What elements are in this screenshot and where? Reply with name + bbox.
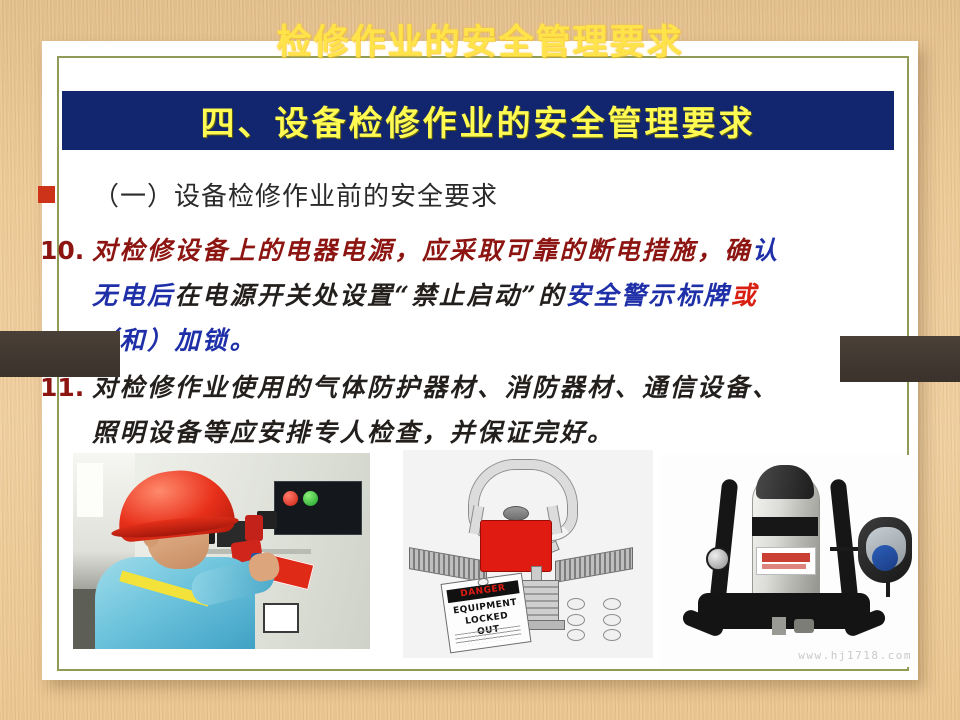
background-title: 检修作业的安全管理要求 <box>0 14 960 65</box>
text-run: 无电后 <box>92 281 175 310</box>
text-run: 安全警示标牌 <box>566 281 731 310</box>
ribbed-plate-left <box>409 547 487 583</box>
text-line: （和）加锁。 <box>92 318 938 363</box>
lockout-device-red <box>245 515 263 541</box>
pressure-gauge-icon <box>706 547 730 571</box>
cylinder-valve <box>772 617 786 635</box>
hasp-hole <box>603 629 621 641</box>
text-line: 对检修设备上的电器电源，应采取可靠的断电措施，确认 <box>92 228 938 273</box>
hasp-hole <box>567 598 585 610</box>
photo-scba: www.hj1718.com <box>660 455 918 667</box>
cylinder-valve <box>794 619 814 633</box>
body-content: 10. 对检修设备上的电器电源，应采取可靠的断电措施，确认 无电后在电源开关处设… <box>38 228 938 457</box>
cylinder-cap <box>756 465 814 499</box>
bullet-square-icon <box>38 186 55 203</box>
hasp-hole <box>603 614 621 626</box>
subsection-row: （一）设备检修作业前的安全要求 <box>38 176 498 213</box>
label-marking <box>762 553 810 562</box>
text-run: 对检修作业使用的气体防护器材、消防器材、通信设备、 <box>92 373 780 402</box>
section-header-bar: 四、设备检修作业的安全管理要求 <box>62 91 894 150</box>
text-run: 照明设备等应安排专人检查，并保证完好。 <box>92 418 615 447</box>
hasp-hole <box>603 598 621 610</box>
window-shape <box>77 463 103 517</box>
photo-lockout-hasp: DANGER EQUIPMENT LOCKED OUT <box>403 450 653 658</box>
label-marking <box>762 564 806 569</box>
cylinder-label <box>756 547 816 575</box>
list-item-lines: 对检修作业使用的气体防护器材、消防器材、通信设备、 照明设备等应安排专人检查，并… <box>92 365 938 455</box>
lockout-tag: DANGER EQUIPMENT LOCKED OUT <box>441 573 532 654</box>
text-line: 无电后在电源开关处设置“禁止启动”的安全警示标牌或 <box>92 273 938 318</box>
section-header-title: 四、设备检修作业的安全管理要求 <box>201 96 756 145</box>
list-item: 10. 对检修设备上的电器电源，应采取可靠的断电措施，确认 无电后在电源开关处设… <box>38 228 938 363</box>
indicator-light-red <box>283 491 298 506</box>
indicator-light-green <box>303 491 318 506</box>
subsection-title: （一）设备检修作业前的安全要求 <box>93 176 498 213</box>
text-run: 在电源开关处设置“禁止启动”的 <box>175 281 566 310</box>
decorative-band-left <box>0 331 120 377</box>
cylinder-band <box>752 517 818 536</box>
hasp-hole <box>567 629 585 641</box>
watermark: www.hj1718.com <box>798 649 912 662</box>
hasp-hole <box>567 614 585 626</box>
list-item-number: 10. <box>38 228 92 273</box>
list-item-lines: 对检修设备上的电器电源，应采取可靠的断电措施，确认 无电后在电源开关处设置“禁止… <box>92 228 938 363</box>
list-item: 11. 对检修作业使用的气体防护器材、消防器材、通信设备、 照明设备等应安排专人… <box>38 365 938 455</box>
text-run: 对检修设备上的电器电源，应采取可靠的断电措施，确 <box>92 236 752 265</box>
mask-inner-piece <box>872 545 898 571</box>
decorative-band-right <box>840 336 960 382</box>
text-line: 照明设备等应安排专人检查，并保证完好。 <box>92 410 938 455</box>
text-run: 认 <box>752 236 780 265</box>
presentation-slide: 检修作业的安全管理要求 四、设备检修作业的安全管理要求 （一）设备检修作业前的安… <box>0 0 960 720</box>
harness-strap-left <box>710 478 739 601</box>
photo-worker-lockout <box>73 453 370 649</box>
hasp-knob <box>503 506 529 521</box>
panel-plate <box>263 603 299 633</box>
photo-strip: DANGER EQUIPMENT LOCKED OUT <box>0 450 960 680</box>
text-line: 对检修作业使用的气体防护器材、消防器材、通信设备、 <box>92 365 938 410</box>
ribbed-plate-right <box>555 547 633 583</box>
hasp-body-red <box>480 520 552 572</box>
control-panel-screen <box>274 481 362 535</box>
text-run: 或 <box>731 281 759 310</box>
